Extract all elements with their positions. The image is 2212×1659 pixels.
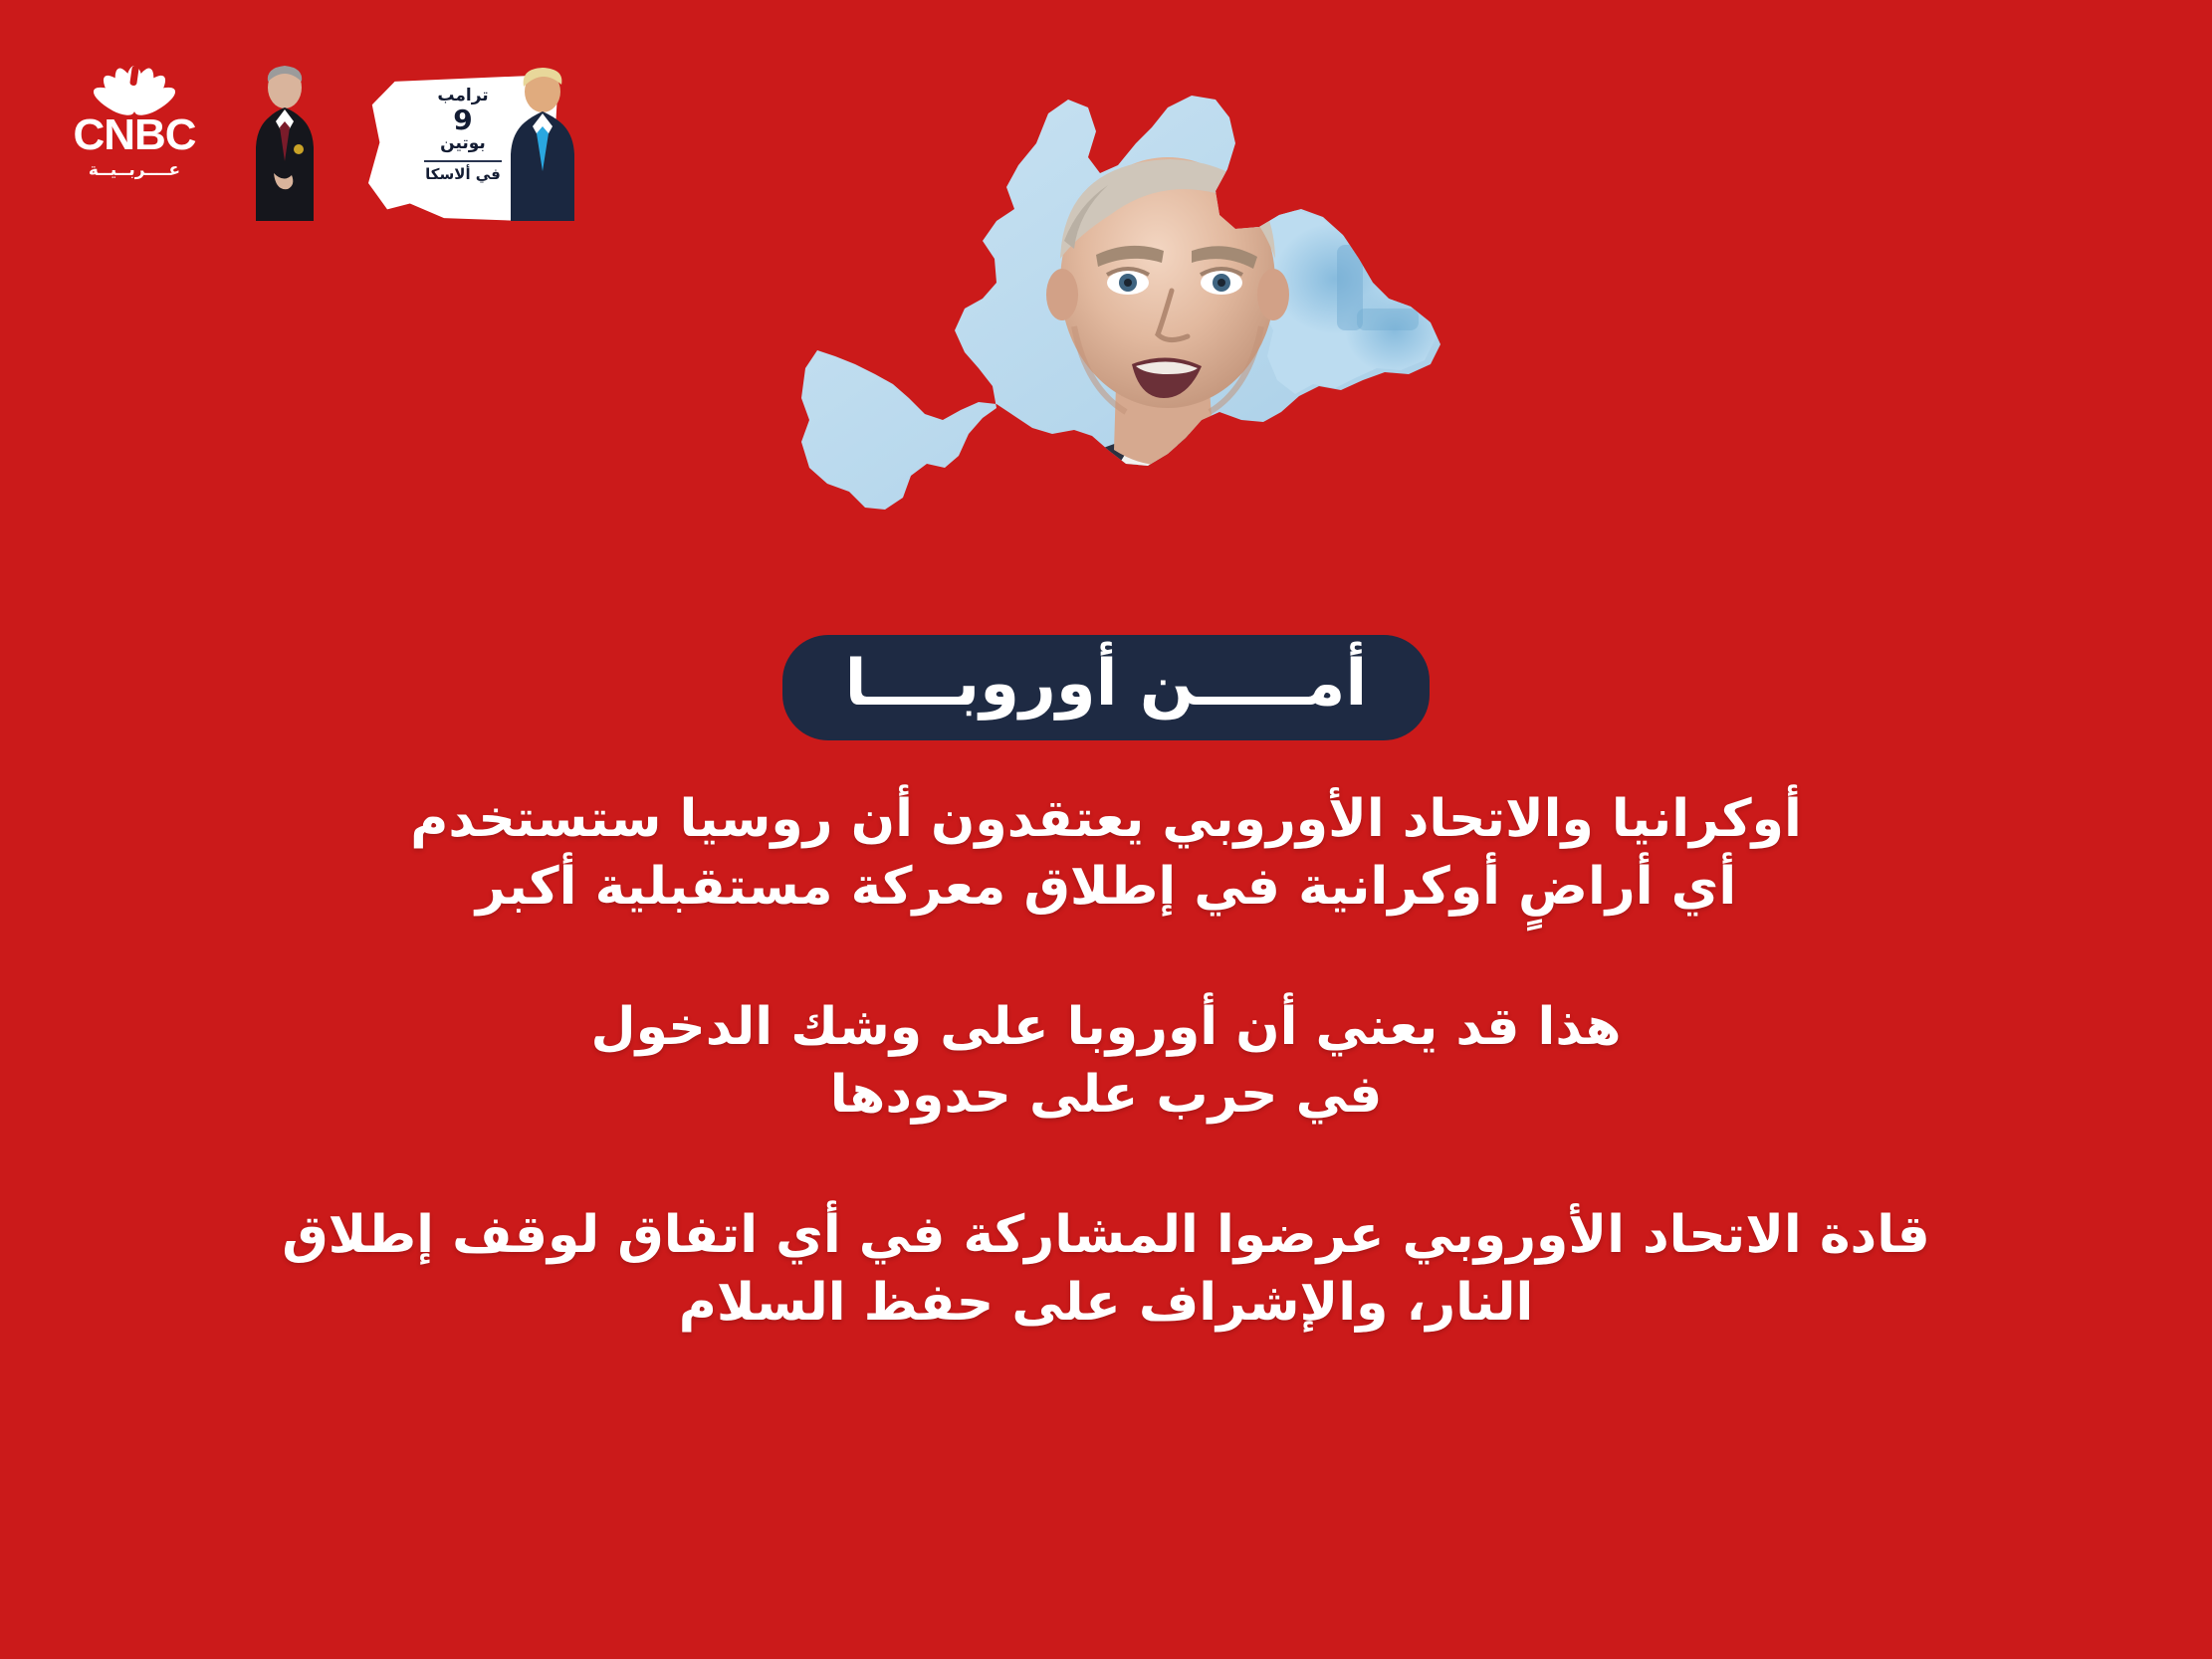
paragraph-1-line-1: أوكرانيا والاتحاد الأوروبي يعتقدون أن رو… [110, 786, 2102, 854]
cnbc-wordmark: CNBC [70, 113, 199, 157]
paragraph-2-line-1: هذا قد يعني أن أوروبا على وشك الدخول [110, 994, 2102, 1062]
cnbc-arabic-suffix: عــــربــيــة [70, 160, 199, 180]
badge-divider [424, 160, 502, 162]
paragraph-3-line-1: قادة الاتحاد الأوروبي عرضوا المشاركة في … [110, 1202, 2102, 1270]
page-title-text: أمـــــن أوروبــــا [834, 647, 1378, 723]
microphone-icon [1243, 508, 1275, 627]
cnbc-peacock-icon [87, 52, 182, 111]
paragraph-1: أوكرانيا والاتحاد الأوروبي يعتقدون أن رو… [110, 786, 2102, 921]
body-copy: أوكرانيا والاتحاد الأوروبي يعتقدون أن رو… [0, 786, 2212, 1338]
hero-graphic [698, 70, 1514, 627]
paragraph-3: قادة الاتحاد الأوروبي عرضوا المشاركة في … [110, 1202, 2102, 1337]
paragraph-2: هذا قد يعني أن أوروبا على وشك الدخول في … [110, 994, 2102, 1129]
event-badge: ترامب 9 بوتين في ألاسكا [219, 44, 617, 221]
trump-figure-icon [496, 66, 589, 221]
page-title: أمـــــن أوروبــــا [782, 635, 1430, 740]
paragraph-3-line-2: النار، والإشراف على حفظ السلام [110, 1270, 2102, 1338]
brand-bar: CNBC عــــربــيــة ترامب 9 بوتين [60, 44, 617, 223]
infographic-card: CNBC عــــربــيــة ترامب 9 بوتين [0, 0, 2212, 1659]
putin-figure-icon [241, 62, 327, 221]
cnbc-logo: CNBC عــــربــيــة [70, 52, 199, 176]
europe-map-icon [698, 70, 1514, 627]
paragraph-2-line-2: في حرب على حدودها [110, 1062, 2102, 1130]
paragraph-1-line-2: أي أراضٍ أوكرانية في إطلاق معركة مستقبلي… [110, 854, 2102, 922]
